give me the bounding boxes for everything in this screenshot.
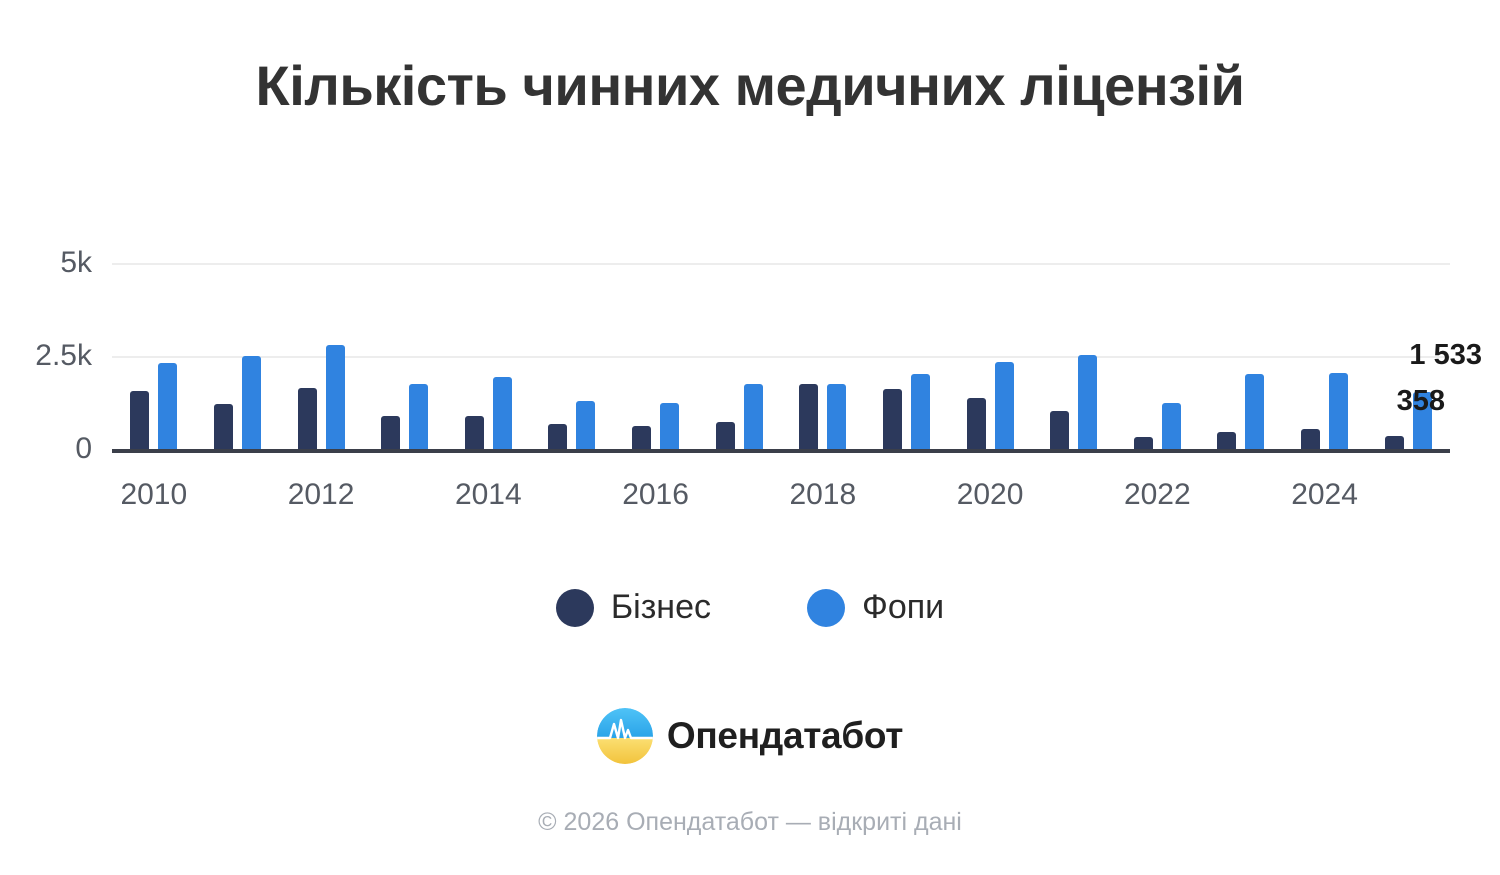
- bar-group-2014: [465, 0, 512, 449]
- bar-group-2011: [214, 0, 261, 449]
- bar-fop-2017[interactable]: [744, 384, 763, 449]
- bar-business-2012[interactable]: [298, 388, 317, 449]
- bar-group-2020: [967, 0, 1014, 449]
- bar-business-2025[interactable]: [1385, 436, 1404, 449]
- legend-label-fop: Фопи: [862, 588, 944, 627]
- bar-business-2022[interactable]: [1134, 437, 1153, 449]
- bar-business-2018[interactable]: [799, 384, 818, 449]
- bar-group-2012: [298, 0, 345, 449]
- bar-group-2013: [381, 0, 428, 449]
- legend-swatch-business-icon: [556, 589, 594, 627]
- bar-fop-2013[interactable]: [409, 384, 428, 449]
- bar-group-2010: [130, 0, 177, 449]
- bar-group-2016: [632, 0, 679, 449]
- bar-business-2013[interactable]: [381, 416, 400, 449]
- legend-item-fop[interactable]: Фопи: [807, 588, 944, 627]
- bar-fop-2024[interactable]: [1329, 373, 1348, 449]
- x-axis-line: [112, 449, 1450, 453]
- bar-business-2019[interactable]: [883, 389, 902, 449]
- brand-name: Опендатабот: [667, 715, 903, 757]
- bar-fop-2020[interactable]: [995, 362, 1014, 449]
- bar-fop-2016[interactable]: [660, 403, 679, 449]
- value-label-business-2025: 358: [1397, 385, 1445, 418]
- opendatabot-pulse-logo-icon: [597, 708, 653, 764]
- bar-fop-2023[interactable]: [1245, 374, 1264, 449]
- bar-business-2023[interactable]: [1217, 432, 1236, 449]
- x-tick-2020: 2020: [957, 478, 1024, 512]
- bar-business-2014[interactable]: [465, 416, 484, 449]
- chart-card: Кількість чинних медичних ліцензій 02.5k…: [0, 0, 1500, 875]
- bar-group-2021: [1050, 0, 1097, 449]
- bar-fop-2010[interactable]: [158, 363, 177, 449]
- x-tick-2010: 2010: [120, 478, 187, 512]
- bar-group-2015: [548, 0, 595, 449]
- x-tick-2024: 2024: [1291, 478, 1358, 512]
- bar-fop-2018[interactable]: [827, 384, 846, 449]
- bar-fop-2014[interactable]: [493, 377, 512, 449]
- bar-fop-2012[interactable]: [326, 345, 345, 449]
- x-tick-2016: 2016: [622, 478, 689, 512]
- legend-item-business[interactable]: Бізнес: [556, 588, 711, 627]
- bar-business-2010[interactable]: [130, 391, 149, 449]
- bar-group-2025: [1385, 0, 1432, 449]
- x-tick-2014: 2014: [455, 478, 522, 512]
- bar-business-2016[interactable]: [632, 426, 651, 449]
- value-label-fop-2025: 1 533: [1409, 339, 1482, 372]
- x-tick-2022: 2022: [1124, 478, 1191, 512]
- bar-group-2023: [1217, 0, 1264, 449]
- chart-legend: БізнесФопи: [0, 588, 1500, 627]
- bar-group-2024: [1301, 0, 1348, 449]
- bar-fop-2021[interactable]: [1078, 355, 1097, 449]
- bar-fop-2022[interactable]: [1162, 403, 1181, 449]
- brand-block: Опендатабот: [0, 708, 1500, 764]
- bars-layer: [0, 0, 1500, 449]
- bar-group-2017: [716, 0, 763, 449]
- bar-group-2019: [883, 0, 930, 449]
- bar-fop-2015[interactable]: [576, 401, 595, 449]
- bar-fop-2011[interactable]: [242, 356, 261, 449]
- bar-group-2022: [1134, 0, 1181, 449]
- legend-label-business: Бізнес: [611, 588, 711, 627]
- bar-business-2015[interactable]: [548, 424, 567, 449]
- bar-business-2021[interactable]: [1050, 411, 1069, 449]
- footer-copyright: © 2026 Опендатабот — відкриті дані: [0, 808, 1500, 837]
- legend-swatch-fop-icon: [807, 589, 845, 627]
- x-tick-2012: 2012: [288, 478, 355, 512]
- bar-business-2020[interactable]: [967, 398, 986, 449]
- plot-area: 02.5k5k 20102012201420162018202020222024…: [0, 0, 1500, 520]
- bar-fop-2019[interactable]: [911, 374, 930, 449]
- bar-group-2018: [799, 0, 846, 449]
- bar-business-2017[interactable]: [716, 422, 735, 449]
- x-tick-2018: 2018: [789, 478, 856, 512]
- bar-business-2024[interactable]: [1301, 429, 1320, 449]
- bar-business-2011[interactable]: [214, 404, 233, 449]
